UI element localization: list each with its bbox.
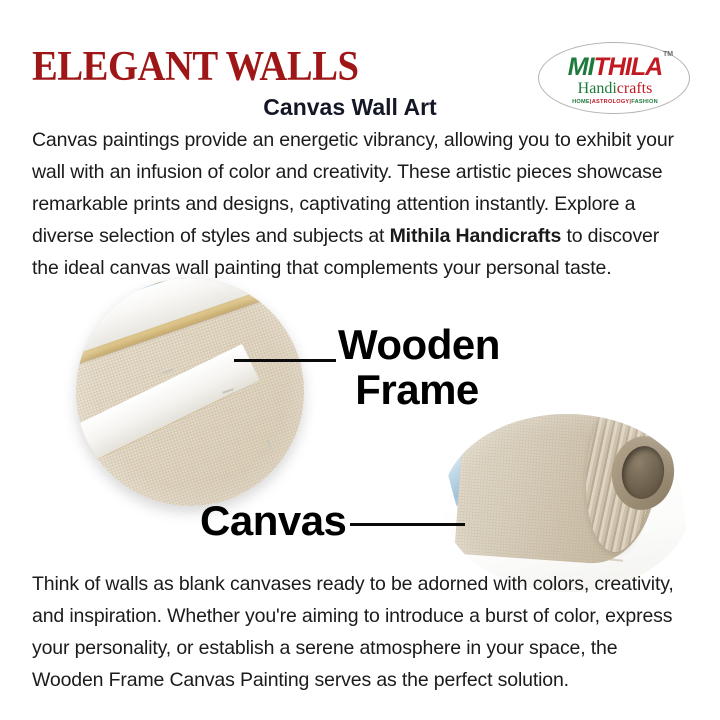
wooden-frame-label-line2: Frame [338,367,496,412]
canvas-label: Canvas [200,498,346,543]
wooden-frame-photo [76,278,304,506]
logo-subtext-crafts: crafts [617,80,653,97]
mithila-handicrafts-logo: MITHILA TM Handicrafts HOME|ASTROLOGY|FA… [538,42,690,114]
canvas-roll-photo [442,414,692,592]
logo-wordmark-hila: HILA [608,53,662,81]
wooden-frame-photo-scene [76,278,304,506]
logo-tagline-fashion: FASHION [631,99,658,105]
canvas-roll-photo-scene [442,414,692,592]
wooden-frame-label-line1: Wooden [338,321,500,368]
wooden-frame-leader-line [234,359,336,362]
logo-tagline: HOME|ASTROLOGY|FASHION [539,98,691,106]
logo-tagline-astrology: ASTROLOGY [592,99,630,105]
logo-inner: MITHILA TM Handicrafts HOME|ASTROLOGY|FA… [539,43,689,113]
wooden-frame-label: WoodenFrame [338,322,588,412]
closing-paragraph: Think of walls as blank canvases ready t… [32,568,690,696]
canvas-leader-line [350,523,465,526]
brand-mention: Mithila Handicrafts [390,225,562,247]
logo-subtext: Handicrafts [539,80,691,98]
logo-subtext-handi: Handi [578,80,617,97]
logo-wordmark-mi: MI [568,53,594,81]
trademark-icon: TM [663,51,673,58]
brand-title: ELEGANT WALLS [32,46,359,88]
intro-paragraph: Canvas paintings provide an energetic vi… [32,124,690,284]
logo-wordmark-t: T [594,53,608,81]
logo-tagline-home: HOME [572,99,590,105]
